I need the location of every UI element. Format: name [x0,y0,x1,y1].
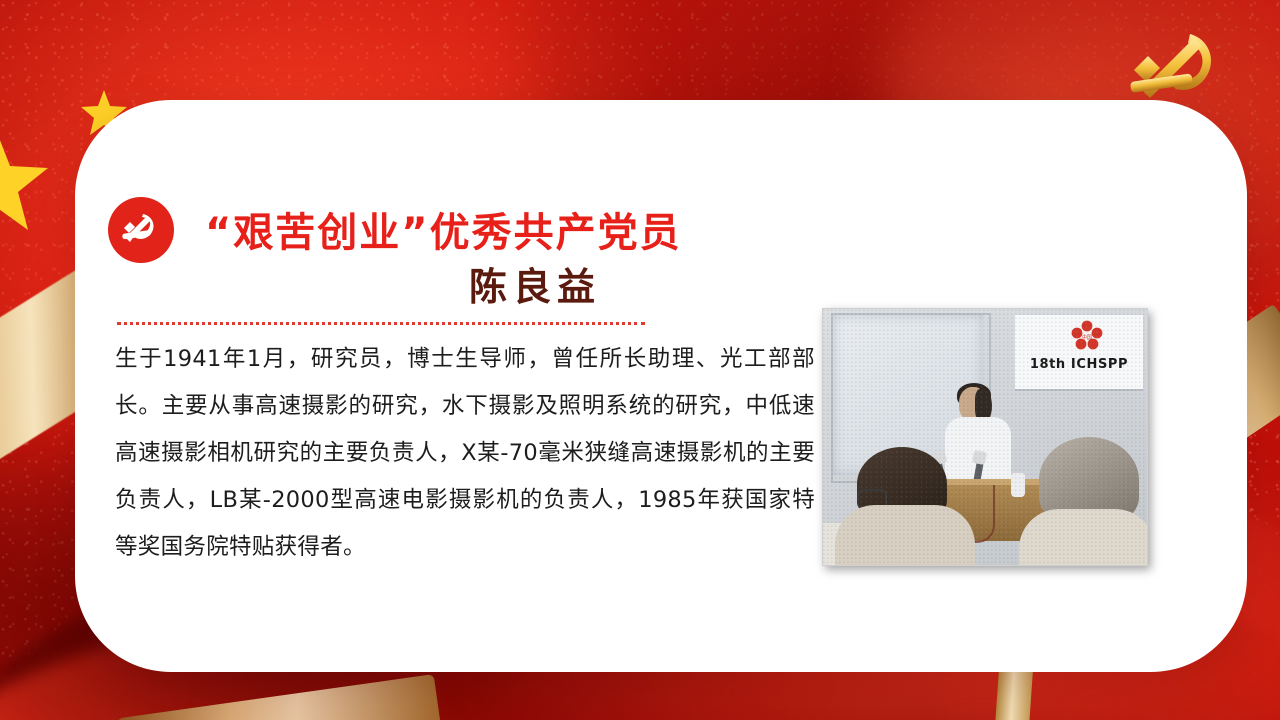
photo-grain-overlay [823,309,1147,565]
content-card: “艰苦创业”优秀共产党员 陈良益 生于1941年1月，研究员，博士生导师，曾任所… [75,100,1247,672]
biography-text: 生于1941年1月，研究员，博士生导师，曾任所长助理、光工部部长。主要从事高速摄… [115,336,815,571]
slide-root: “艰苦创业”优秀共产党员 陈良益 生于1941年1月，研究员，博士生导师，曾任所… [0,0,1280,720]
cpc-emblem-icon [108,197,174,263]
photo-content: 中国 18th ICHSPP [823,309,1147,565]
person-name: 陈良益 [205,256,865,311]
page-title: “艰苦创业”优秀共产党员 [205,200,865,258]
conference-photo: 中国 18th ICHSPP [822,308,1148,566]
title-divider [117,322,645,325]
cpc-hammer-sickle-emblem [1122,24,1232,108]
biography-paragraph: 生于1941年1月，研究员，博士生导师，曾任所长助理、光工部部长。主要从事高速摄… [115,336,815,571]
